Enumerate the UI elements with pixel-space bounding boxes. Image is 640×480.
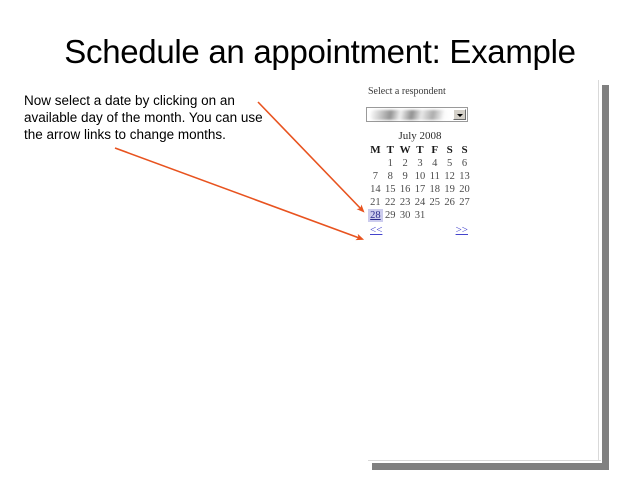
- calendar-day[interactable]: 31: [413, 209, 428, 222]
- weekday-header: F: [427, 143, 442, 157]
- screenshot-shadow-right: [602, 85, 609, 463]
- page-title: Schedule an appointment: Example: [0, 33, 640, 71]
- calendar-day: [457, 209, 472, 222]
- calendar-day[interactable]: 3: [413, 157, 428, 170]
- calendar-day[interactable]: 15: [383, 183, 398, 196]
- arrow-to-prev-month-link: [115, 148, 362, 239]
- slide-canvas: Schedule an appointment: Example Now sel…: [0, 0, 640, 480]
- calendar-weekday-header-row: M T W T F S S: [368, 143, 472, 157]
- calendar-day[interactable]: 1: [383, 157, 398, 170]
- weekday-header: T: [383, 143, 398, 157]
- screenshot-frame-right-edge: [598, 80, 599, 461]
- prev-month-link[interactable]: <<: [370, 224, 382, 236]
- calendar-day[interactable]: 17: [413, 183, 428, 196]
- calendar-day-selected-link[interactable]: 28: [370, 210, 381, 221]
- calendar-grid: M T W T F S S 1 2 3 4: [368, 143, 472, 222]
- arrow-to-day-row: [258, 102, 363, 211]
- weekday-header: M: [368, 143, 383, 157]
- calendar-day[interactable]: 21: [368, 196, 383, 209]
- calendar-day[interactable]: 4: [427, 157, 442, 170]
- calendar-day: [442, 209, 457, 222]
- weekday-header: W: [398, 143, 413, 157]
- calendar-day[interactable]: 5: [442, 157, 457, 170]
- calendar-week-row: 14 15 16 17 18 19 20: [368, 183, 472, 196]
- calendar-week-row: 28 29 30 31: [368, 209, 472, 222]
- embedded-webpage-screenshot: Select a respondent July 2008 M T W T F …: [366, 86, 598, 460]
- calendar-week-row: 1 2 3 4 5 6: [368, 157, 472, 170]
- respondent-label: Select a respondent: [368, 86, 446, 97]
- calendar-day[interactable]: 11: [427, 170, 442, 183]
- calendar-week-row: 7 8 9 10 11 12 13: [368, 170, 472, 183]
- calendar-day[interactable]: 22: [383, 196, 398, 209]
- calendar-day[interactable]: 9: [398, 170, 413, 183]
- calendar-day[interactable]: 19: [442, 183, 457, 196]
- calendar-day[interactable]: 27: [457, 196, 472, 209]
- calendar-day[interactable]: 13: [457, 170, 472, 183]
- calendar-day[interactable]: 26: [442, 196, 457, 209]
- calendar-day: [368, 157, 383, 170]
- calendar-day[interactable]: 29: [383, 209, 398, 222]
- calendar-day-selected[interactable]: 28: [368, 209, 383, 222]
- calendar-day[interactable]: 30: [398, 209, 413, 222]
- calendar-day[interactable]: 25: [427, 196, 442, 209]
- calendar-week-row: 21 22 23 24 25 26 27: [368, 196, 472, 209]
- calendar-day[interactable]: 10: [413, 170, 428, 183]
- calendar-day[interactable]: 8: [383, 170, 398, 183]
- calendar-day[interactable]: 6: [457, 157, 472, 170]
- respondent-select-value: [370, 110, 450, 120]
- instruction-text: Now select a date by clicking on an avai…: [24, 92, 270, 143]
- calendar-day[interactable]: 12: [442, 170, 457, 183]
- weekday-header: T: [413, 143, 428, 157]
- screenshot-shadow-bottom: [372, 463, 609, 470]
- calendar-navigation: << >>: [368, 224, 472, 238]
- next-month-link[interactable]: >>: [456, 224, 468, 236]
- calendar-day[interactable]: 23: [398, 196, 413, 209]
- respondent-select[interactable]: [366, 107, 468, 122]
- calendar-month-title: July 2008: [368, 130, 472, 143]
- calendar-day[interactable]: 24: [413, 196, 428, 209]
- calendar-day[interactable]: 16: [398, 183, 413, 196]
- calendar-day: [427, 209, 442, 222]
- calendar-day[interactable]: 7: [368, 170, 383, 183]
- screenshot-frame-bottom-edge: [368, 460, 601, 461]
- calendar-widget: July 2008 M T W T F S S: [368, 130, 472, 238]
- weekday-header: S: [442, 143, 457, 157]
- calendar-day[interactable]: 20: [457, 183, 472, 196]
- calendar-day[interactable]: 14: [368, 183, 383, 196]
- calendar-day[interactable]: 2: [398, 157, 413, 170]
- chevron-down-icon[interactable]: [453, 109, 466, 120]
- calendar-day[interactable]: 18: [427, 183, 442, 196]
- weekday-header: S: [457, 143, 472, 157]
